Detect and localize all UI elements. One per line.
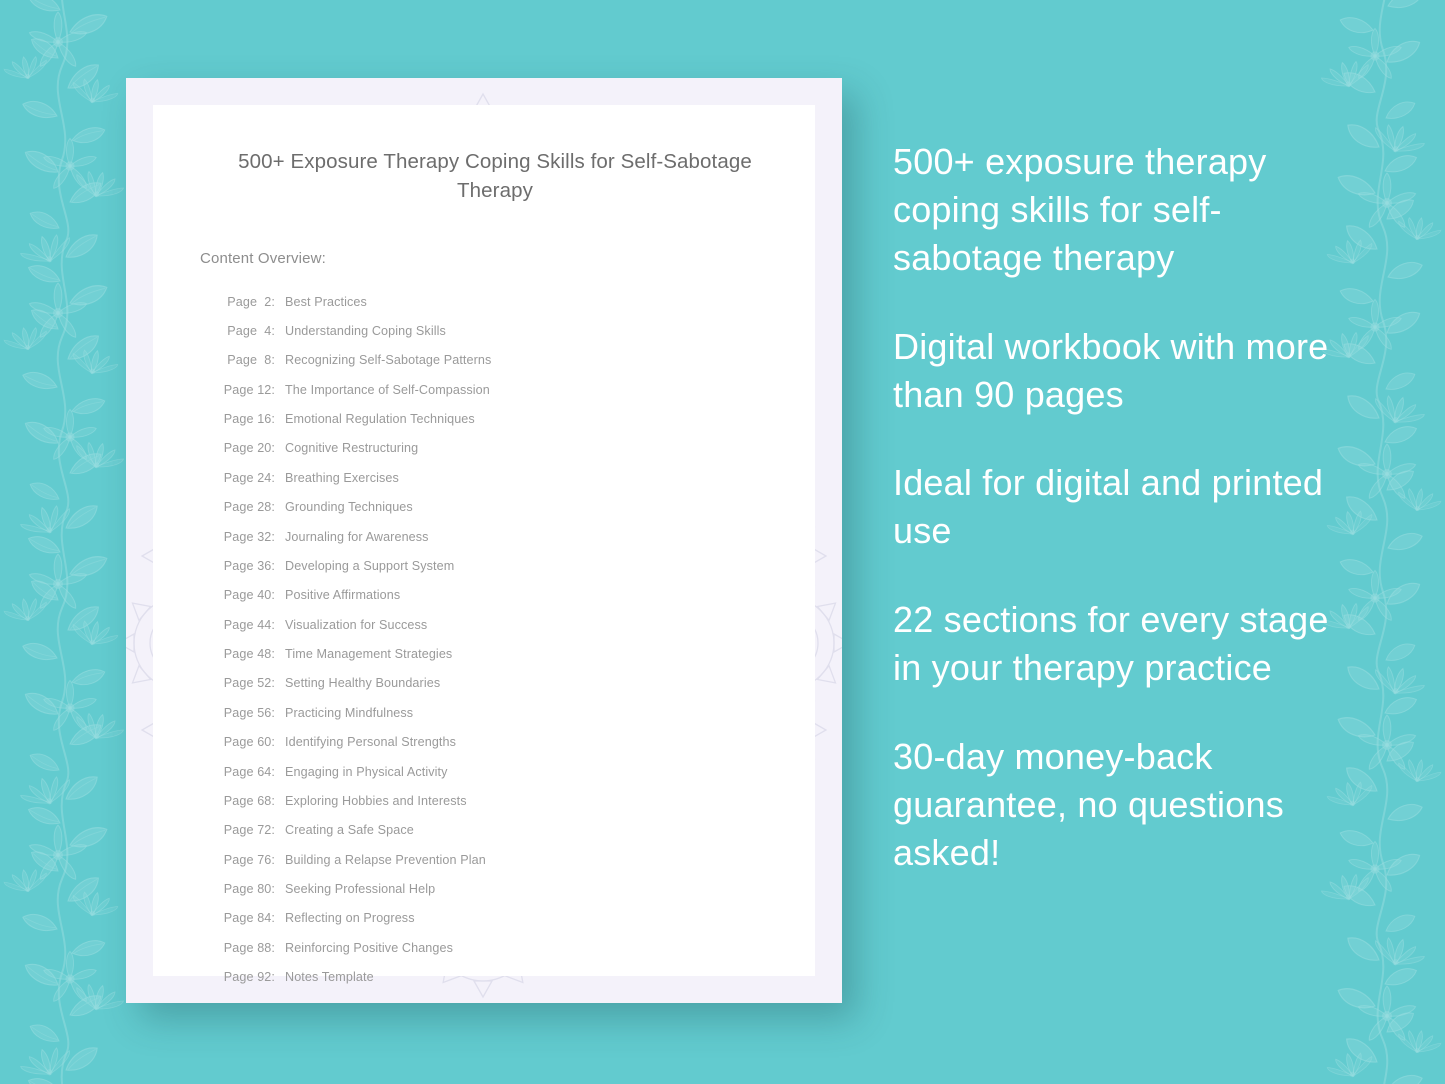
page-title: 500+ Exposure Therapy Coping Skills for …	[199, 147, 791, 205]
promo-line: 500+ exposure therapy coping skills for …	[893, 138, 1353, 282]
toc-separator	[275, 677, 285, 690]
toc-entry-title: Engaging in Physical Activity	[285, 766, 448, 779]
toc-entry-title: Positive Affirmations	[285, 589, 400, 602]
promo-line: Ideal for digital and printed use	[893, 459, 1353, 555]
toc-separator	[275, 736, 285, 749]
list-item: Page 60:Identifying Personal Strengths	[223, 728, 791, 757]
toc-separator	[275, 766, 285, 779]
list-item: Page 76:Building a Relapse Prevention Pl…	[223, 845, 791, 874]
toc-separator	[275, 296, 285, 309]
list-item: Page 44:Visualization for Success	[223, 610, 791, 639]
toc-entry-title: Developing a Support System	[285, 560, 454, 573]
product-mockup-card: 500+ Exposure Therapy Coping Skills for …	[126, 78, 842, 1003]
toc-page-number: Page 8:	[223, 354, 275, 367]
toc-separator	[275, 384, 285, 397]
toc-page-number: Page 16:	[223, 413, 275, 426]
toc-separator	[275, 619, 285, 632]
toc-separator	[275, 531, 285, 544]
toc-entry-title: The Importance of Self-Compassion	[285, 384, 490, 397]
toc-page-number: Page 68:	[223, 795, 275, 808]
list-item: Page 16:Emotional Regulation Techniques	[223, 405, 791, 434]
toc-entry-title: Practicing Mindfulness	[285, 707, 413, 720]
toc-entry-title: Cognitive Restructuring	[285, 442, 418, 455]
toc-entry-title: Understanding Coping Skills	[285, 325, 446, 338]
toc-separator	[275, 501, 285, 514]
toc-entry-title: Emotional Regulation Techniques	[285, 413, 475, 426]
toc-entry-title: Reflecting on Progress	[285, 912, 415, 925]
list-item: Page 36:Developing a Support System	[223, 552, 791, 581]
toc-page-number: Page 84:	[223, 912, 275, 925]
floral-vine-border-left	[0, 0, 132, 1084]
list-item: Page 80:Seeking Professional Help	[223, 875, 791, 904]
toc-separator	[275, 942, 285, 955]
list-item: Page 64:Engaging in Physical Activity	[223, 757, 791, 786]
toc-page-number: Page 28:	[223, 501, 275, 514]
toc-separator	[275, 325, 285, 338]
toc-entry-title: Breathing Exercises	[285, 472, 399, 485]
toc-entry-title: Grounding Techniques	[285, 501, 413, 514]
toc-entry-title: Recognizing Self-Sabotage Patterns	[285, 354, 491, 367]
list-item: Page 88:Reinforcing Positive Changes	[223, 933, 791, 962]
table-of-contents: Page 2:Best PracticesPage 4:Understandin…	[223, 287, 791, 992]
list-item: Page 32:Journaling for Awareness	[223, 522, 791, 551]
list-item: Page 92:Notes Template	[223, 963, 791, 992]
toc-separator	[275, 883, 285, 896]
toc-separator	[275, 912, 285, 925]
toc-separator	[275, 589, 285, 602]
list-item: Page 24:Breathing Exercises	[223, 463, 791, 492]
toc-page-number: Page 76:	[223, 854, 275, 867]
promo-line: 30-day money-back guarantee, no question…	[893, 733, 1353, 877]
toc-page-number: Page 64:	[223, 766, 275, 779]
toc-entry-title: Identifying Personal Strengths	[285, 736, 456, 749]
toc-page-number: Page 32:	[223, 531, 275, 544]
toc-page-number: Page 92:	[223, 971, 275, 984]
toc-entry-title: Best Practices	[285, 296, 367, 309]
toc-entry-title: Seeking Professional Help	[285, 883, 435, 896]
toc-page-number: Page 36:	[223, 560, 275, 573]
list-item: Page 72:Creating a Safe Space	[223, 816, 791, 845]
list-item: Page 4:Understanding Coping Skills	[223, 317, 791, 346]
toc-page-number: Page 12:	[223, 384, 275, 397]
toc-page-number: Page 24:	[223, 472, 275, 485]
toc-separator	[275, 648, 285, 661]
toc-separator	[275, 560, 285, 573]
toc-entry-title: Creating a Safe Space	[285, 824, 414, 837]
toc-page-number: Page 44:	[223, 619, 275, 632]
promo-text-column: 500+ exposure therapy coping skills for …	[893, 138, 1353, 877]
promo-line: Digital workbook with more than 90 pages	[893, 323, 1353, 419]
list-item: Page 28:Grounding Techniques	[223, 493, 791, 522]
list-item: Page 8:Recognizing Self-Sabotage Pattern…	[223, 346, 791, 375]
list-item: Page 52:Setting Healthy Boundaries	[223, 669, 791, 698]
toc-separator	[275, 442, 285, 455]
list-item: Page 68:Exploring Hobbies and Interests	[223, 787, 791, 816]
toc-entry-title: Setting Healthy Boundaries	[285, 677, 440, 690]
toc-separator	[275, 854, 285, 867]
toc-entry-title: Reinforcing Positive Changes	[285, 942, 453, 955]
toc-page-number: Page 56:	[223, 707, 275, 720]
toc-page-number: Page 2:	[223, 296, 275, 309]
toc-page-number: Page 20:	[223, 442, 275, 455]
content-overview-label: Content Overview:	[200, 250, 791, 267]
list-item: Page 12:The Importance of Self-Compassio…	[223, 375, 791, 404]
toc-entry-title: Time Management Strategies	[285, 648, 452, 661]
toc-page-number: Page 88:	[223, 942, 275, 955]
toc-page-number: Page 80:	[223, 883, 275, 896]
toc-separator	[275, 354, 285, 367]
toc-separator	[275, 824, 285, 837]
list-item: Page 56:Practicing Mindfulness	[223, 698, 791, 727]
list-item: Page 48:Time Management Strategies	[223, 640, 791, 669]
list-item: Page 2:Best Practices	[223, 287, 791, 316]
toc-page-number: Page 40:	[223, 589, 275, 602]
toc-page-number: Page 52:	[223, 677, 275, 690]
toc-page-number: Page 48:	[223, 648, 275, 661]
toc-separator	[275, 707, 285, 720]
toc-entry-title: Visualization for Success	[285, 619, 427, 632]
list-item: Page 20:Cognitive Restructuring	[223, 434, 791, 463]
toc-separator	[275, 795, 285, 808]
workbook-page: 500+ Exposure Therapy Coping Skills for …	[153, 105, 815, 976]
toc-entry-title: Notes Template	[285, 971, 374, 984]
list-item: Page 84:Reflecting on Progress	[223, 904, 791, 933]
promo-line: 22 sections for every stage in your ther…	[893, 596, 1353, 692]
toc-page-number: Page 4:	[223, 325, 275, 338]
toc-entry-title: Building a Relapse Prevention Plan	[285, 854, 486, 867]
toc-entry-title: Exploring Hobbies and Interests	[285, 795, 467, 808]
toc-separator	[275, 472, 285, 485]
toc-separator	[275, 413, 285, 426]
toc-page-number: Page 60:	[223, 736, 275, 749]
toc-entry-title: Journaling for Awareness	[285, 531, 429, 544]
toc-separator	[275, 971, 285, 984]
toc-page-number: Page 72:	[223, 824, 275, 837]
list-item: Page 40:Positive Affirmations	[223, 581, 791, 610]
